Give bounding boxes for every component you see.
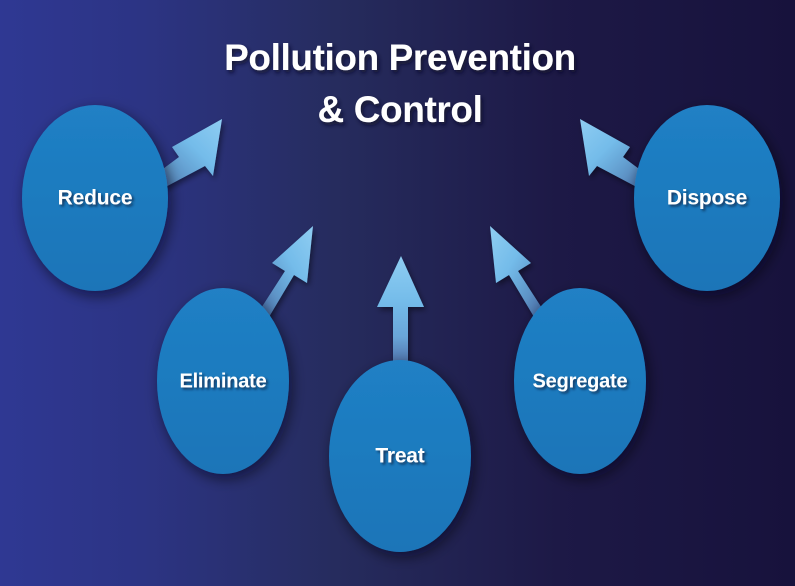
- node-reduce-label: Reduce: [58, 187, 133, 210]
- node-reduce[interactable]: Reduce: [22, 105, 168, 291]
- arrow-treat: [377, 256, 424, 368]
- arrow-eliminate: [256, 226, 313, 322]
- slide-title: Pollution Prevention & Control: [224, 37, 576, 130]
- arrow-segregate-shape: [490, 226, 547, 322]
- node-treat-label: Treat: [375, 445, 424, 468]
- arrow-eliminate-shape: [256, 226, 313, 322]
- pollution-prevention-slide: Pollution Prevention & Control Reduce: [0, 0, 795, 586]
- node-eliminate[interactable]: Eliminate: [157, 288, 289, 474]
- node-segregate-label: Segregate: [533, 370, 628, 392]
- node-eliminate-label: Eliminate: [179, 370, 266, 392]
- node-dispose[interactable]: Dispose: [634, 105, 780, 291]
- title-line-1: Pollution Prevention: [224, 37, 576, 78]
- node-dispose-label: Dispose: [667, 187, 747, 210]
- node-segregate[interactable]: Segregate: [514, 288, 646, 474]
- arrow-treat-shape: [377, 256, 424, 368]
- title-line-2: & Control: [318, 89, 483, 130]
- arrow-segregate: [490, 226, 547, 322]
- node-treat[interactable]: Treat: [329, 360, 471, 552]
- diagram-layer: Pollution Prevention & Control Reduce: [0, 0, 795, 586]
